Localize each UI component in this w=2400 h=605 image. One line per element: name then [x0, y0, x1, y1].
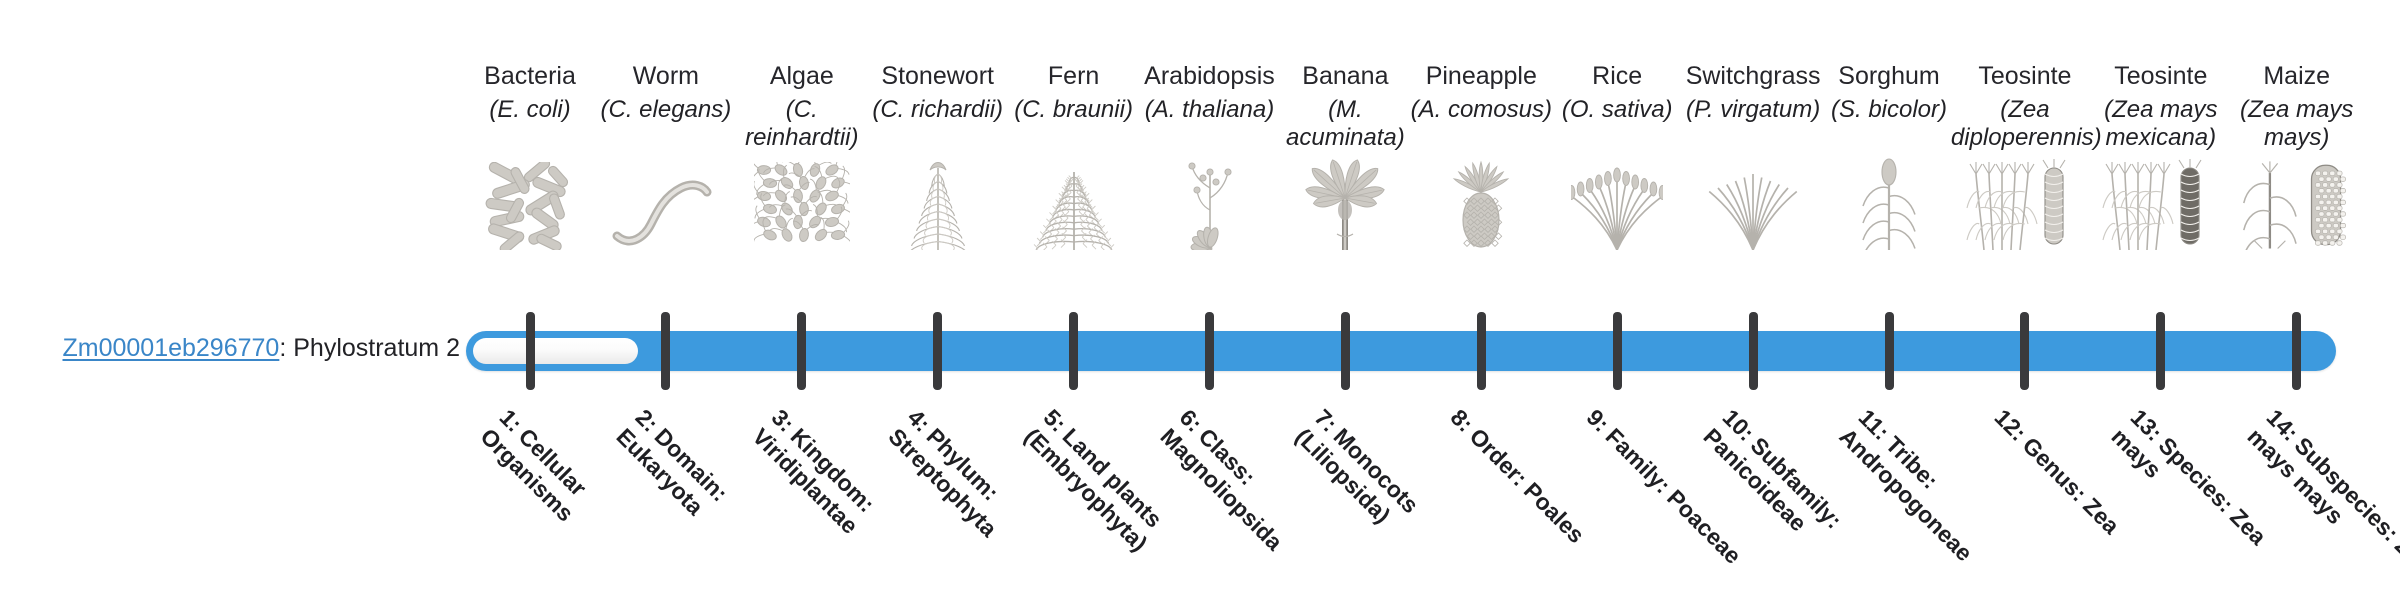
gene-phylostratum-label: Zm00001eb296770: Phylostratum 2: [40, 333, 460, 363]
species-common-name: Pineapple: [1413, 62, 1549, 91]
species-scientific-name: (C. reinhardtii): [728, 96, 876, 152]
rank-detail: Poales: [1519, 477, 1590, 548]
phylostratum-bar-empty-segment: [473, 338, 638, 364]
species-common-name: Worm: [598, 62, 734, 91]
banana-plant-illustration: [1285, 158, 1405, 250]
arabidopsis-rosette-illustration: [1150, 158, 1270, 250]
species-scientific-name: (Zea mays mays): [2223, 96, 2371, 152]
gene-id-link[interactable]: Zm00001eb296770: [62, 334, 279, 362]
rank-detail: Poaceae: [1662, 484, 1746, 568]
tick-mark-2: [661, 312, 670, 390]
species-common-name: Switchgrass: [1685, 62, 1821, 91]
species-common-name: Fern: [1006, 62, 1142, 91]
species-scientific-name: (A. comosus): [1407, 96, 1555, 124]
species-scientific-name: (S. bicolor): [1815, 96, 1963, 124]
tick-mark-10: [1749, 312, 1758, 390]
tick-mark-13: [2156, 312, 2165, 390]
tick-mark-7: [1341, 312, 1350, 390]
species-common-name: Arabidopsis: [1142, 62, 1278, 91]
sorghum-plant-illustration: [1829, 158, 1949, 250]
species-scientific-name: (E. coli): [456, 96, 604, 124]
maize-plant-and-cob-illustration: [2237, 158, 2357, 250]
tick-mark-9: [1613, 312, 1622, 390]
tick-mark-5: [1069, 312, 1078, 390]
rank-title: Order:: [1465, 423, 1533, 491]
rank-title: Genus:: [2018, 432, 2092, 506]
species-common-name: Teosinte: [2093, 62, 2229, 91]
species-common-name: Algae: [734, 62, 870, 91]
species-scientific-name: (M. acuminata): [1271, 96, 1419, 152]
rice-plant-illustration: [1557, 158, 1677, 250]
species-scientific-name: (C. richardii): [864, 96, 1012, 124]
stonewort-alga-illustration: [878, 158, 998, 250]
tick-mark-1: [526, 312, 535, 390]
bacteria-rods-illustration: [470, 158, 590, 250]
rank-detail: Zea: [2078, 493, 2124, 539]
teosinte-mexicana-plant-and-ear-illustration: [2101, 158, 2221, 250]
gene-label-separator: :: [279, 334, 293, 362]
species-common-name: Bacteria: [462, 62, 598, 91]
rank-title: Species:: [2153, 432, 2238, 517]
tick-mark-12: [2020, 312, 2029, 390]
tick-mark-11: [1885, 312, 1894, 390]
species-scientific-name: (C. braunii): [1000, 96, 1148, 124]
fern-frond-illustration: [1014, 158, 1134, 250]
nematode-worm-illustration: [606, 158, 726, 250]
tick-mark-6: [1205, 312, 1214, 390]
rank-number: 12:: [1990, 404, 2032, 446]
species-common-name: Sorghum: [1821, 62, 1957, 91]
switchgrass-plant-illustration: [1693, 158, 1813, 250]
species-scientific-name: (P. virgatum): [1679, 96, 1827, 124]
species-common-name: Rice: [1549, 62, 1685, 91]
phylostratum-value-text: Phylostratum 2: [293, 334, 460, 362]
tick-mark-8: [1477, 312, 1486, 390]
green-algae-cells-illustration: [742, 158, 862, 250]
species-scientific-name: (C. elegans): [592, 96, 740, 124]
species-scientific-name: (A. thaliana): [1136, 96, 1284, 124]
tick-mark-14: [2292, 312, 2301, 390]
rank-title: Family:: [1601, 423, 1676, 498]
species-scientific-name: (Zea mays mexicana): [2087, 96, 2235, 152]
tick-mark-4: [933, 312, 942, 390]
tick-mark-3: [797, 312, 806, 390]
phylostratum-bar-track[interactable]: [466, 331, 2336, 371]
species-common-name: Banana: [1277, 62, 1413, 91]
teosinte-plant-and-ear-illustration: [1965, 158, 2085, 250]
species-common-name: Teosinte: [1957, 62, 2093, 91]
species-common-name: Maize: [2229, 62, 2365, 91]
phylostratum-figure: Zm00001eb296770: Phylostratum 2 Bacteria…: [0, 0, 2400, 580]
species-common-name: Stonewort: [870, 62, 1006, 91]
species-scientific-name: (O. sativa): [1543, 96, 1691, 124]
pineapple-fruit-illustration: [1421, 158, 1541, 250]
species-scientific-name: (Zea diploperennis): [1951, 96, 2099, 152]
